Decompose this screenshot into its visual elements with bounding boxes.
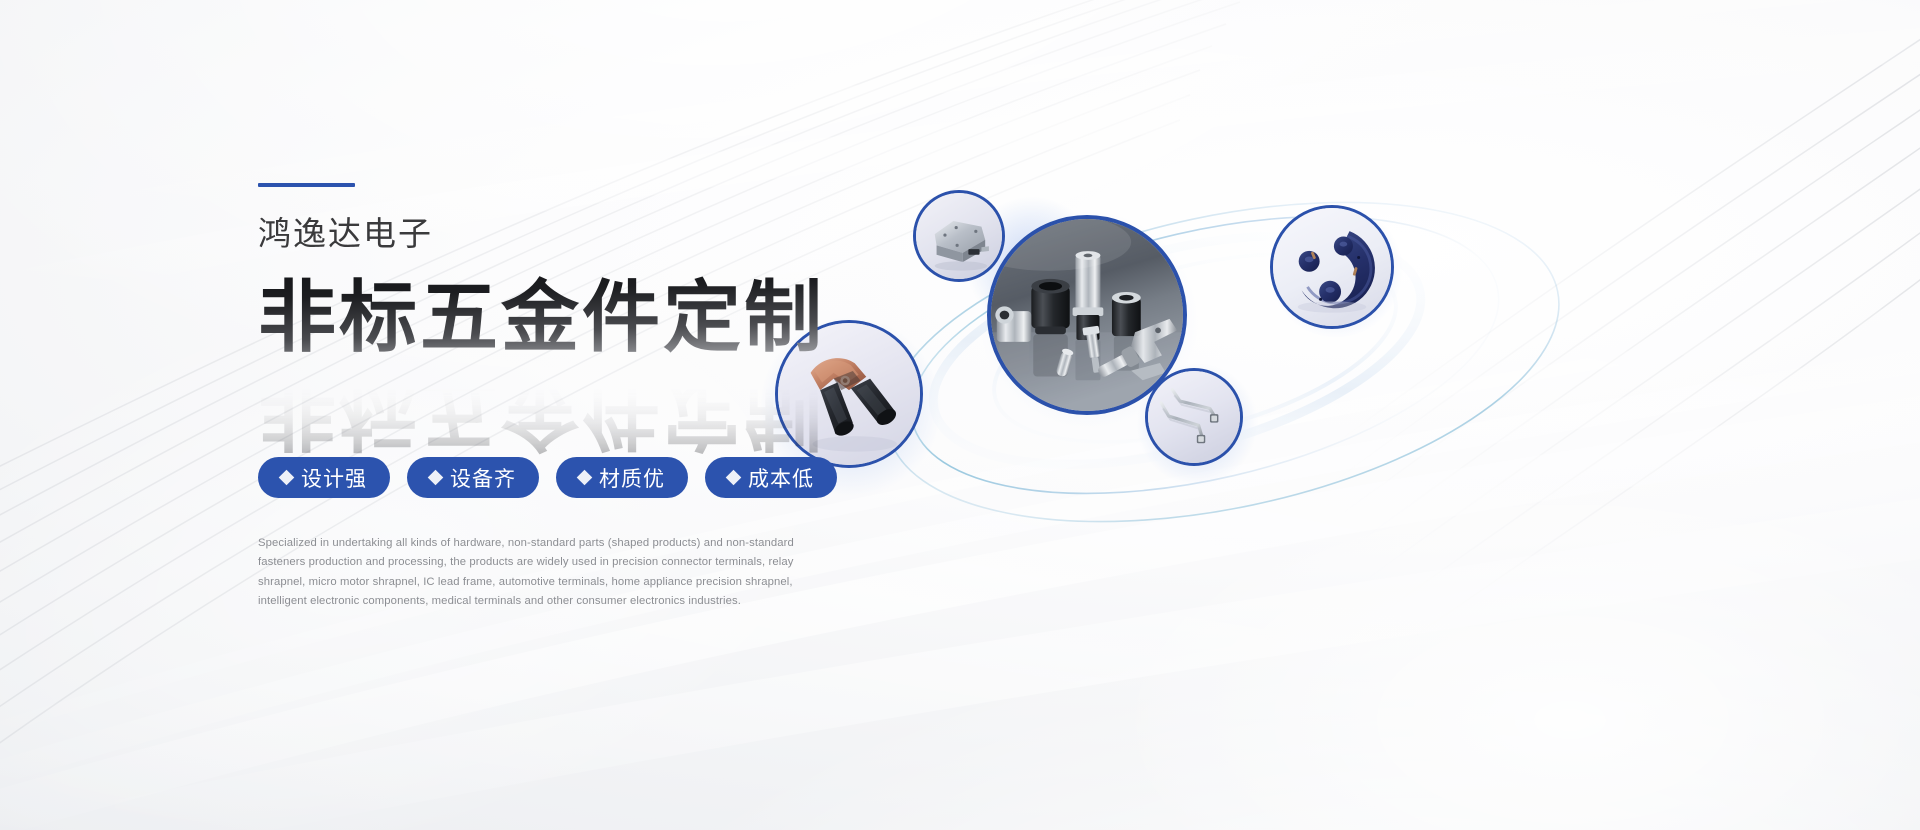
hero-banner: 鸿逸达电子 非标五金件定制 非标五金件定制 设计强 设备齐 材质优 成本低 [0,0,1920,830]
hero-copy: 鸿逸达电子 非标五金件定制 非标五金件定制 设计强 设备齐 材质优 成本低 [258,183,898,612]
feature-badge-label: 材质优 [599,463,665,493]
product-cluster [905,150,1725,580]
feature-badge-design[interactable]: 设计强 [258,457,390,498]
page-title: 非标五金件定制 [258,276,898,359]
diamond-icon [726,470,742,486]
product-photo-retaining-ring[interactable] [1270,205,1394,329]
diamond-icon [577,470,593,486]
feature-badge-cost[interactable]: 成本低 [705,457,837,498]
headline-group: 非标五金件定制 非标五金件定制 [258,276,898,394]
brand-name: 鸿逸达电子 [258,217,898,250]
accent-rule [258,183,355,187]
feature-badge-list: 设计强 设备齐 材质优 成本低 [258,457,898,498]
diamond-icon [279,470,295,486]
product-photo-terminal-pins[interactable] [1145,368,1243,466]
product-photo-metal-enclosure[interactable] [913,190,1005,282]
feature-badge-equipment[interactable]: 设备齐 [407,457,539,498]
company-description: Specialized in undertaking all kinds of … [258,534,818,612]
feature-badge-material[interactable]: 材质优 [556,457,688,498]
feature-badge-label: 设计强 [301,463,367,493]
diamond-icon [428,470,444,486]
headline-reflection: 非标五金件定制 [258,372,825,455]
feature-badge-label: 设备齐 [450,463,516,493]
feature-badge-label: 成本低 [748,463,814,493]
